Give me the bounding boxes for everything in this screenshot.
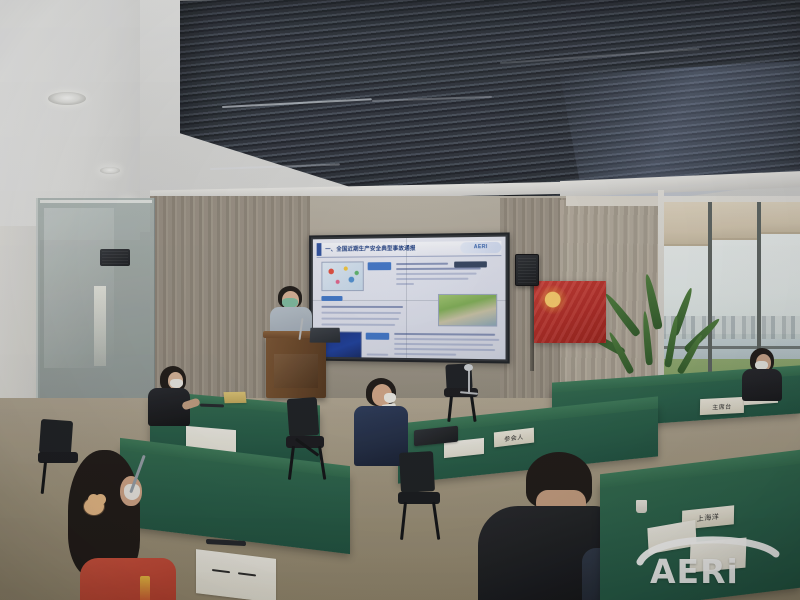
speaker-grill xyxy=(102,251,128,264)
note-card xyxy=(223,392,246,403)
slide-label-chip xyxy=(321,296,342,301)
hair-clip-heart-lobe xyxy=(95,494,106,505)
projection-screen[interactable]: 一、全国近期生产安全典型事故通报 AERI xyxy=(309,232,510,363)
speaker-grill xyxy=(518,257,536,283)
mic-stand-pole xyxy=(468,368,470,394)
glass-top-edge xyxy=(40,200,152,203)
attendee-center-face-mask xyxy=(384,393,396,403)
roller-shade[interactable] xyxy=(760,202,800,234)
attendee-right xyxy=(740,348,784,400)
paper-text-line xyxy=(238,572,256,576)
lanyard-badge xyxy=(140,576,150,600)
attendee-left-front xyxy=(66,448,176,600)
slide-label-chip xyxy=(368,262,392,270)
chair-backrest xyxy=(399,451,435,493)
slide-title: 一、全国近期生产安全典型事故通报 xyxy=(325,242,456,255)
chair-backrest xyxy=(287,397,320,437)
roller-shade[interactable] xyxy=(712,202,758,240)
paper-right-front-2 xyxy=(689,537,746,572)
slide-label-chip xyxy=(366,333,389,340)
slide-logo: AERI xyxy=(460,241,501,253)
attendee-left-back xyxy=(148,366,194,424)
attendee-left-back-face-mask xyxy=(170,379,183,388)
roller-shade[interactable] xyxy=(662,202,710,246)
paper-cup xyxy=(636,500,647,513)
podium-laptop[interactable] xyxy=(310,328,341,343)
slide-image-map xyxy=(321,261,363,291)
wall-speaker-right xyxy=(515,254,539,286)
podium-face-panel xyxy=(274,354,318,388)
mic-head xyxy=(464,364,473,371)
conference-room-photo: 一、全国近期生产安全典型事故通报 AERI xyxy=(0,0,800,600)
podium-lectern xyxy=(266,336,326,398)
glass-door-handle[interactable] xyxy=(94,286,106,366)
attendee-right-body xyxy=(742,369,782,401)
slide-image-site-photo xyxy=(438,294,497,327)
slide-surface: 一、全国近期生产安全典型事故通报 AERI xyxy=(313,237,506,360)
chair-backrest xyxy=(39,419,73,455)
paper-text-line xyxy=(212,569,230,573)
downlight xyxy=(48,92,86,105)
slide-title-accent xyxy=(317,243,322,256)
placard-right-far: 主席台 xyxy=(700,397,744,415)
paper-left-front xyxy=(196,549,276,600)
wall-speaker-left xyxy=(100,249,130,266)
videowall-seam xyxy=(406,238,407,359)
attendee-left-front-body xyxy=(80,558,176,600)
red-decorative-banner xyxy=(534,281,606,343)
downlight xyxy=(100,167,120,174)
wall-trim xyxy=(566,196,666,206)
